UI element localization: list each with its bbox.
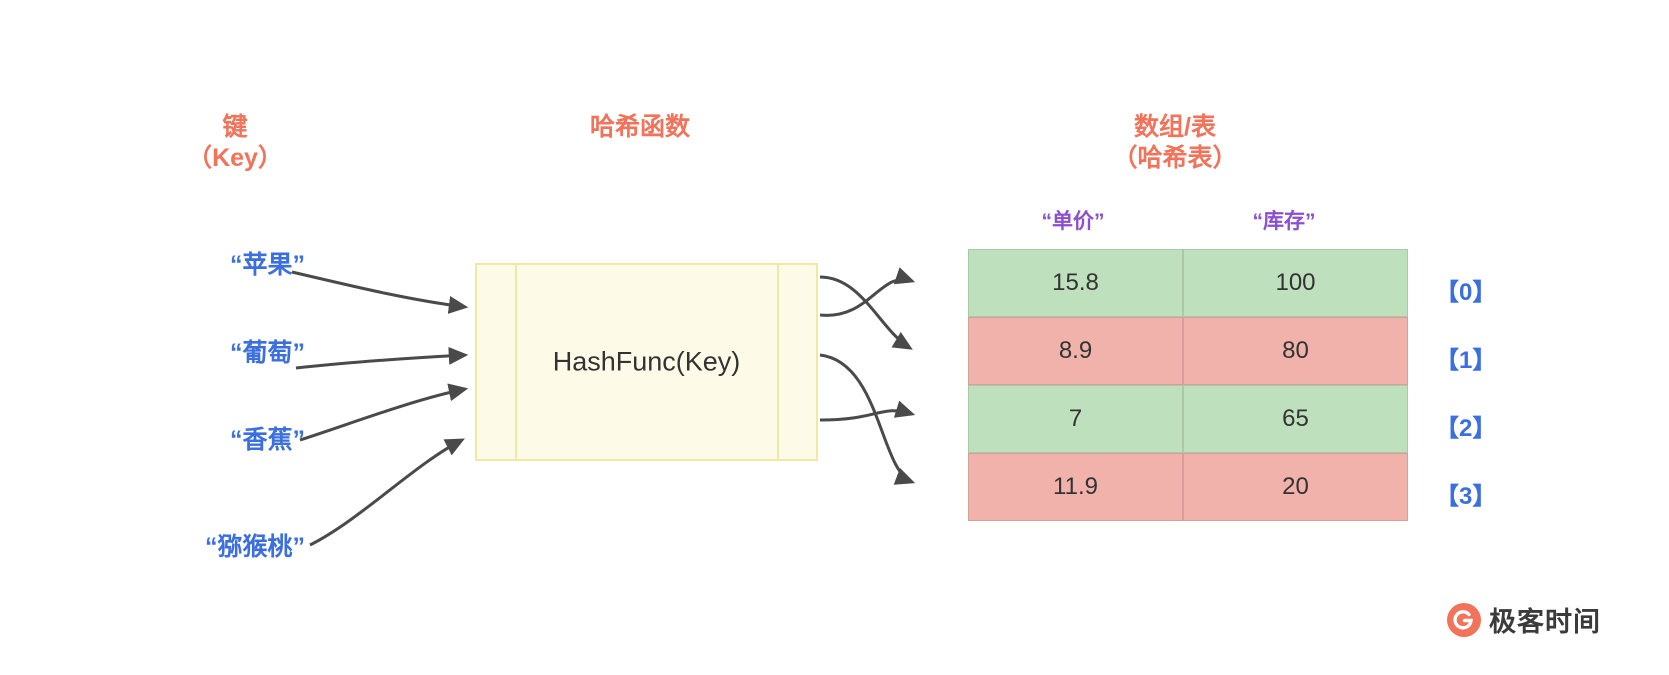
key-label-apple: “苹果” bbox=[100, 245, 305, 281]
arrow-hash-to-slot-3 bbox=[820, 355, 912, 482]
heading-keys-line2: （Key） bbox=[150, 143, 320, 174]
arrow-hash-to-slot-0 bbox=[820, 279, 912, 315]
key-label-banana: “香蕉” bbox=[100, 420, 305, 456]
table-column-title-stock: “库存” bbox=[1178, 205, 1390, 235]
heading-hash-line1: 哈希函数 bbox=[525, 112, 755, 143]
table-index-2: 【2】 bbox=[1435, 408, 1496, 443]
watermark-text: 极客时间 bbox=[1489, 600, 1601, 639]
table-cell-stock-1: 80 bbox=[1183, 317, 1408, 385]
arrow-hash-to-slot-2 bbox=[820, 411, 912, 420]
table-cell-price-2: 7 bbox=[968, 385, 1183, 453]
table-cell-price-1: 8.9 bbox=[968, 317, 1183, 385]
heading-table: 数组/表 （哈希表） bbox=[1065, 112, 1285, 175]
heading-hash-function: 哈希函数 bbox=[525, 112, 755, 143]
table-cell-price-0: 15.8 bbox=[968, 249, 1183, 317]
heading-keys-line1: 键 bbox=[150, 112, 320, 143]
arrow-hash-to-slot-1 bbox=[820, 277, 910, 348]
watermark: 极客时间 bbox=[1447, 600, 1601, 639]
table-cell-stock-0: 100 bbox=[1183, 249, 1408, 317]
arrow-key-grape bbox=[296, 355, 465, 368]
table-cell-price-3: 11.9 bbox=[968, 453, 1183, 521]
diagram-canvas: 键 （Key） 哈希函数 数组/表 （哈希表） “苹果” “葡萄” “香蕉” “… bbox=[0, 0, 1669, 675]
heading-keys: 键 （Key） bbox=[150, 112, 320, 175]
table-index-3: 【3】 bbox=[1435, 476, 1496, 511]
arrow-key-kiwi bbox=[310, 440, 462, 545]
arrow-key-apple bbox=[292, 272, 465, 307]
heading-table-line2: （哈希表） bbox=[1065, 143, 1285, 174]
table-index-1: 【1】 bbox=[1435, 340, 1496, 375]
table-column-title-price: “单价” bbox=[968, 205, 1178, 235]
key-label-kiwi: “猕猴桃” bbox=[80, 527, 305, 563]
geekbang-logo-icon bbox=[1447, 603, 1481, 637]
table-cell-stock-3: 20 bbox=[1183, 453, 1408, 521]
table-index-0: 【0】 bbox=[1435, 272, 1496, 307]
hash-function-label: HashFunc(Key) bbox=[477, 347, 816, 378]
key-label-grape: “葡萄” bbox=[100, 333, 305, 369]
heading-table-line1: 数组/表 bbox=[1065, 112, 1285, 143]
arrow-key-banana bbox=[300, 389, 465, 440]
hash-function-box: HashFunc(Key) bbox=[475, 263, 818, 461]
table-cell-stock-2: 65 bbox=[1183, 385, 1408, 453]
